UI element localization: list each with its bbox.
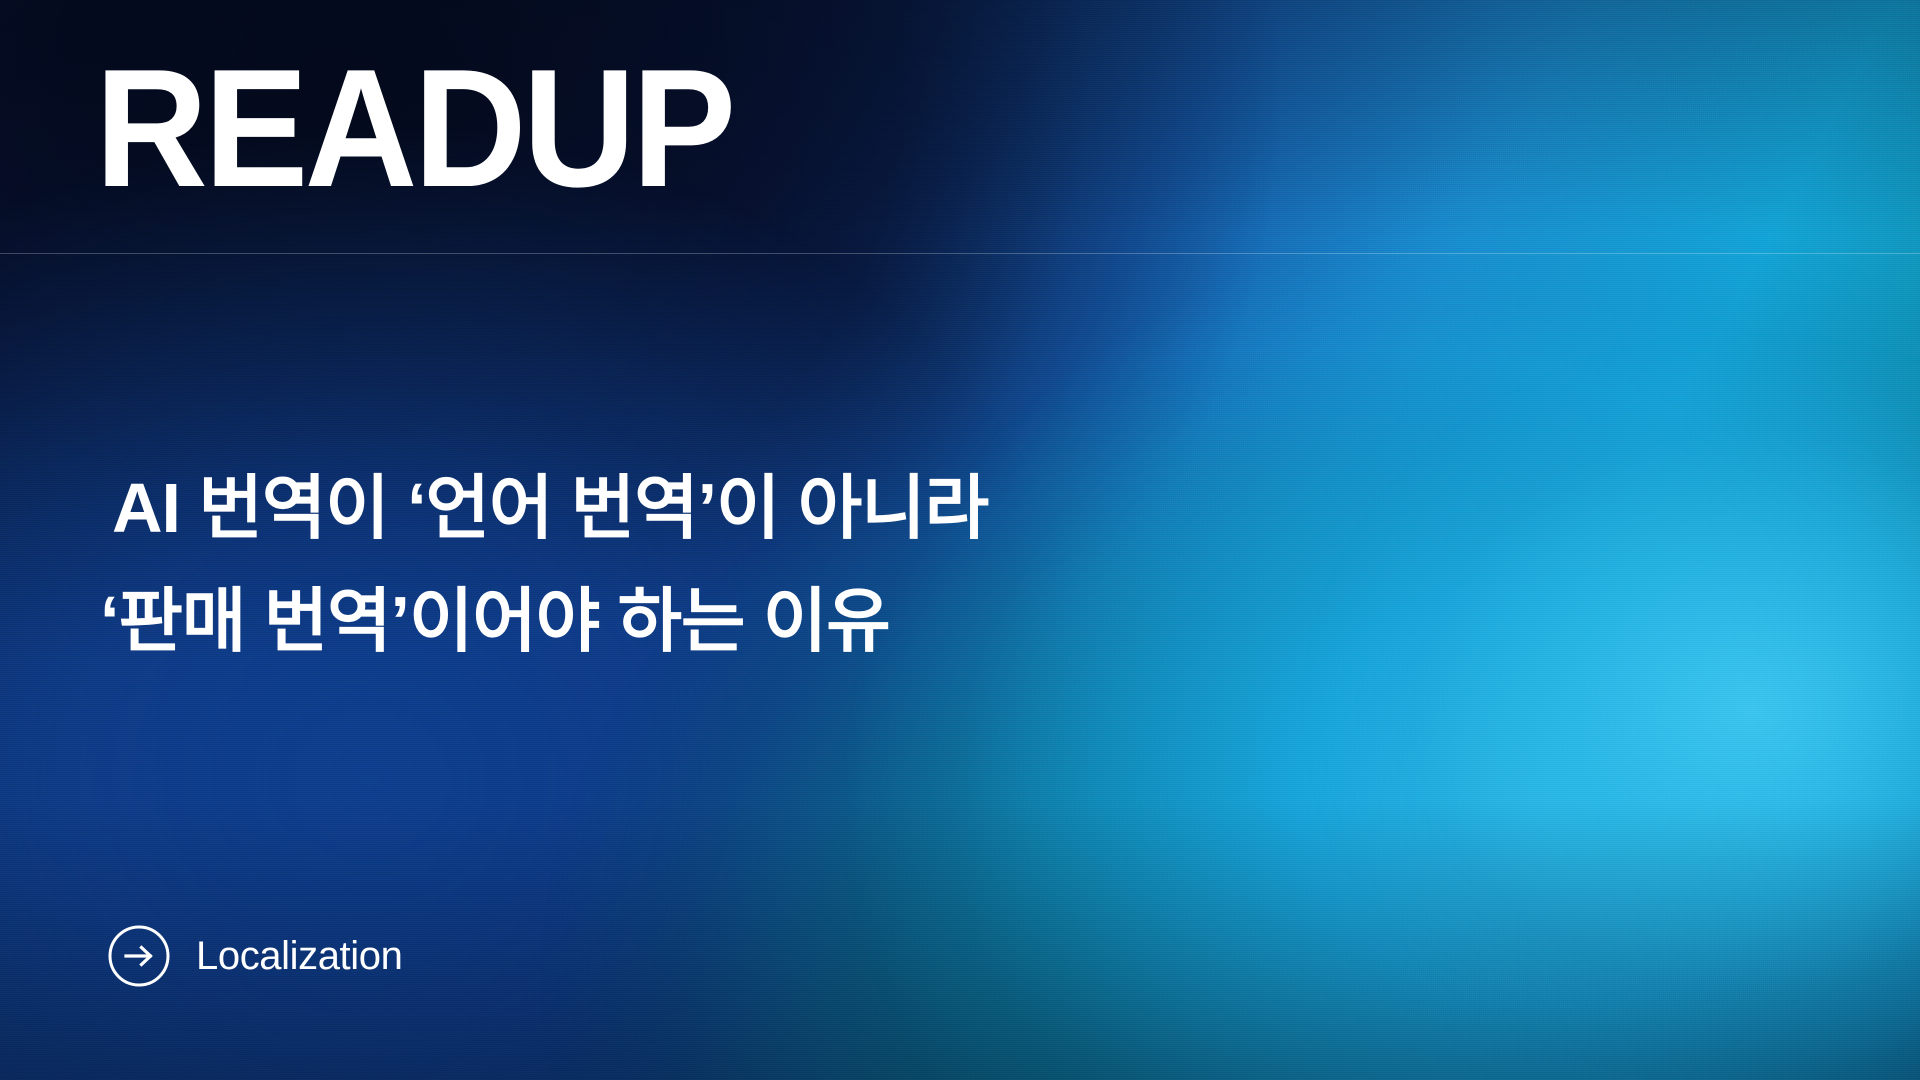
category-tag-localization[interactable]: Localization (108, 925, 402, 987)
header-divider (0, 253, 1920, 254)
headline-line-1: AI 번역이 ‘언어 번역’이 아니라 (100, 452, 1280, 565)
category-tag-label: Localization (196, 936, 402, 976)
headline-line-2: ‘판매 번역’이어야 하는 이유 (100, 565, 1280, 678)
readup-thumbnail-card: READUP AI 번역이 ‘언어 번역’이 아니라 ‘판매 번역’이어야 하는… (0, 0, 1920, 1080)
brand-logo-readup[interactable]: READUP (95, 44, 732, 212)
arrow-right-circle-icon (108, 925, 170, 987)
card-content: READUP AI 번역이 ‘언어 번역’이 아니라 ‘판매 번역’이어야 하는… (0, 0, 1920, 1080)
page-title: AI 번역이 ‘언어 번역’이 아니라 ‘판매 번역’이어야 하는 이유 (100, 452, 1280, 679)
